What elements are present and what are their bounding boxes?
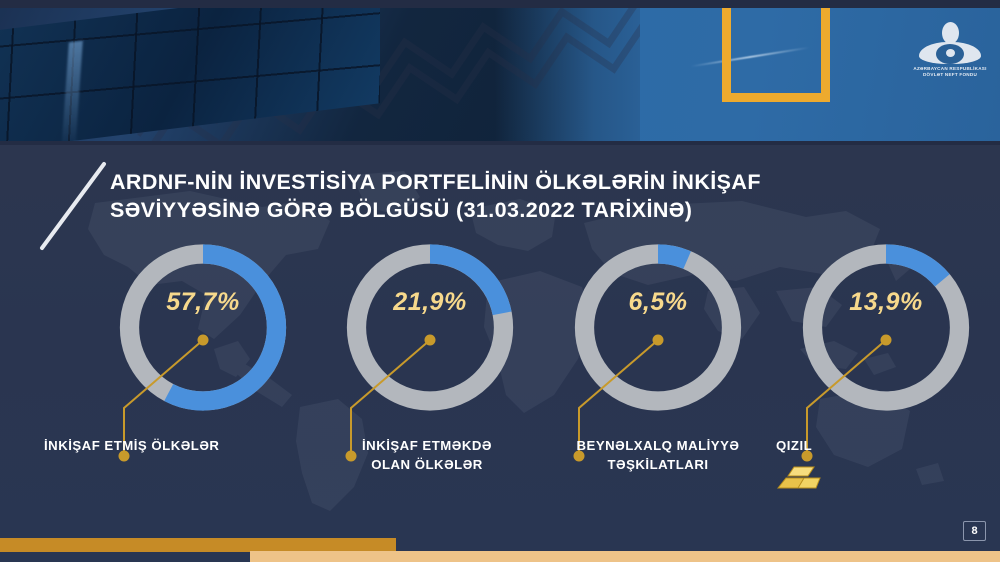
logo-head-shape <box>942 22 959 44</box>
donut-caption-2-line1: İNKİŞAF ETMƏKDƏ <box>307 436 547 455</box>
footer-bar-dark-gold <box>0 538 396 552</box>
gold-bracket-icon <box>722 0 830 102</box>
logo-text-line2: DÖVLƏT NEFT FONDU <box>905 72 995 78</box>
logo-dot-shape <box>946 49 955 57</box>
title-slash-icon <box>38 160 110 252</box>
donut-caption-2-line2: OLAN ÖLKƏLƏR <box>307 455 547 474</box>
footer-bar-light-gold <box>250 551 1000 562</box>
sofaz-figure-icon <box>905 22 995 66</box>
donut-chart-international-financial-orgs: 6,5% BEYNƏLXALQ MALİYYƏ TƏŞKİLATLARI <box>543 240 773 500</box>
page-number-badge: 8 <box>963 521 986 541</box>
donut-chart-developing-countries: 21,9% İNKİŞAF ETMƏKDƏ OLAN ÖLKƏLƏR <box>315 240 545 500</box>
donut-caption-1: İNKİŞAF ETMİŞ ÖLKƏLƏR <box>44 436 284 455</box>
donut-caption-1-line1: İNKİŞAF ETMİŞ ÖLKƏLƏR <box>44 438 219 453</box>
gold-bars-icon <box>776 458 822 492</box>
slide-root: AZƏRBAYCAN RESPUBLİKASI DÖVLƏT NEFT FOND… <box>0 0 1000 562</box>
donut-chart-developed-countries: 57,7% İNKİŞAF ETMİŞ ÖLKƏLƏR <box>88 240 318 500</box>
header-band: AZƏRBAYCAN RESPUBLİKASI DÖVLƏT NEFT FOND… <box>0 0 1000 145</box>
donut-caption-4-line1: QIZIL <box>776 438 812 453</box>
sofaz-logo: AZƏRBAYCAN RESPUBLİKASI DÖVLƏT NEFT FOND… <box>905 22 995 84</box>
page-title: ARDNF-NİN İNVESTİSİYA PORTFELİNİN ÖLKƏLƏ… <box>110 168 810 224</box>
page-title-line1: ARDNF-NİN İNVESTİSİYA PORTFELİNİN ÖLKƏLƏ… <box>110 168 810 196</box>
donut-chart-gold: 13,9% QIZIL <box>771 240 1000 500</box>
building-photo <box>0 0 640 145</box>
donut-caption-2: İNKİŞAF ETMƏKDƏ OLAN ÖLKƏLƏR <box>307 436 547 474</box>
header-bottom-rule <box>0 141 1000 145</box>
page-title-line2: SƏVİYYƏSİNƏ GÖRƏ BÖLGÜSÜ (31.03.2022 TAR… <box>110 196 810 224</box>
donut-caption-3-line2: TƏŞKİLATLARI <box>538 455 778 474</box>
donut-caption-3-line1: BEYNƏLXALQ MALİYYƏ <box>538 436 778 455</box>
header-top-rule <box>0 0 1000 8</box>
donut-caption-3: BEYNƏLXALQ MALİYYƏ TƏŞKİLATLARI <box>538 436 778 474</box>
donut-chart-row: 57,7% İNKİŞAF ETMİŞ ÖLKƏLƏR 21,9% <box>0 240 1000 500</box>
donut-caption-4: QIZIL <box>776 436 1000 455</box>
